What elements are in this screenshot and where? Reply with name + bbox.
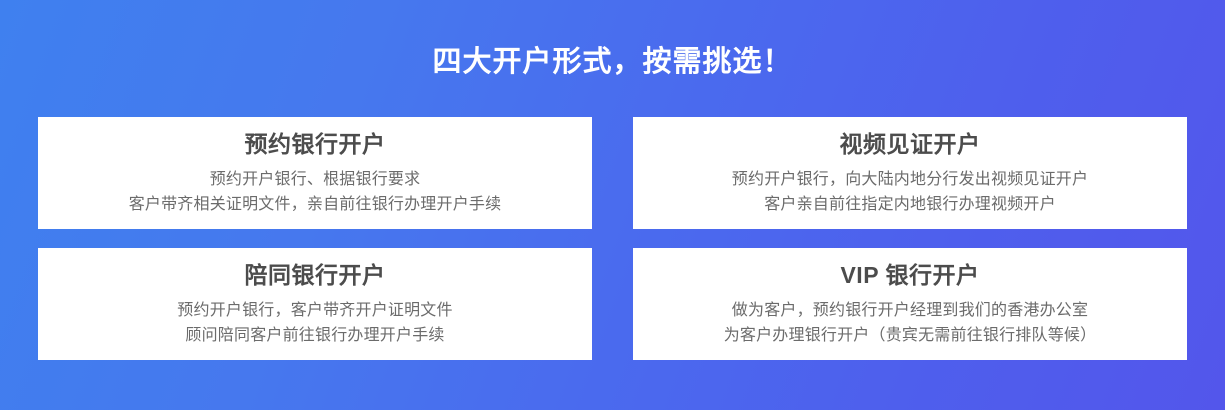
- option-card-line: 预约开户银行，向大陆内地分行发出视频见证开户: [647, 167, 1173, 192]
- option-card-description: 预约开户银行、根据银行要求 客户带齐相关证明文件，亲自前往银行办理开户手续: [52, 167, 578, 217]
- option-card-title: VIP 银行开户: [840, 259, 979, 292]
- banner-headline: 四大开户形式，按需挑选！: [0, 41, 1225, 83]
- option-card-title: 视频见证开户: [840, 128, 981, 161]
- option-card-description: 预约开户银行，客户带齐开户证明文件 顾问陪同客户前往银行办理开户手续: [52, 298, 578, 348]
- option-card-line: 做为客户，预约银行开户经理到我们的香港办公室: [647, 298, 1173, 323]
- option-card-line: 客户亲自前往指定内地银行办理视频开户: [647, 192, 1173, 217]
- option-card-grid: 预约银行开户 预约开户银行、根据银行要求 客户带齐相关证明文件，亲自前往银行办理…: [38, 117, 1187, 360]
- option-card-vip-bank[interactable]: VIP 银行开户 做为客户，预约银行开户经理到我们的香港办公室 为客户办理银行开…: [633, 248, 1187, 360]
- option-card-reserved-bank[interactable]: 预约银行开户 预约开户银行、根据银行要求 客户带齐相关证明文件，亲自前往银行办理…: [38, 117, 592, 229]
- option-card-line: 顾问陪同客户前往银行办理开户手续: [52, 323, 578, 348]
- option-card-line: 预约开户银行、根据银行要求: [52, 167, 578, 192]
- option-card-line: 为客户办理银行开户（贵宾无需前往银行排队等候）: [647, 323, 1173, 348]
- option-card-video-witness[interactable]: 视频见证开户 预约开户银行，向大陆内地分行发出视频见证开户 客户亲自前往指定内地…: [633, 117, 1187, 229]
- account-opening-banner: 四大开户形式，按需挑选！ 预约银行开户 预约开户银行、根据银行要求 客户带齐相关…: [0, 0, 1225, 410]
- option-card-line: 预约开户银行，客户带齐开户证明文件: [52, 298, 578, 323]
- option-card-description: 预约开户银行，向大陆内地分行发出视频见证开户 客户亲自前往指定内地银行办理视频开…: [647, 167, 1173, 217]
- option-card-description: 做为客户，预约银行开户经理到我们的香港办公室 为客户办理银行开户（贵宾无需前往银…: [647, 298, 1173, 348]
- option-card-title: 预约银行开户: [245, 128, 386, 161]
- option-card-line: 客户带齐相关证明文件，亲自前往银行办理开户手续: [52, 192, 578, 217]
- option-card-accompanied-bank[interactable]: 陪同银行开户 预约开户银行，客户带齐开户证明文件 顾问陪同客户前往银行办理开户手…: [38, 248, 592, 360]
- option-card-title: 陪同银行开户: [245, 259, 386, 292]
